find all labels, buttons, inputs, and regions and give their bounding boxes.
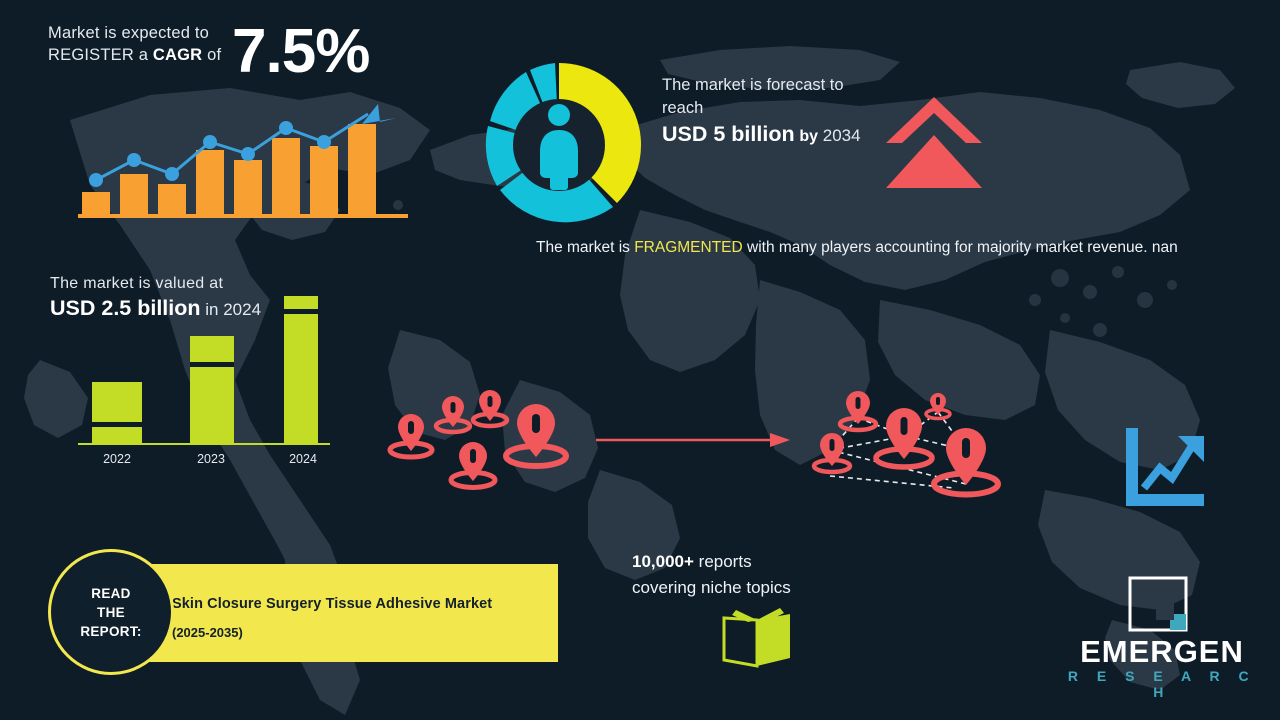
fragment-pre: The market is bbox=[536, 239, 634, 256]
reports-line-1: 10,000+ reports bbox=[632, 549, 791, 575]
read-the-report-badge[interactable]: READ THE REPORT: bbox=[48, 549, 174, 675]
bar-2023 bbox=[190, 336, 234, 444]
forecast-line-3: USD 5 billion by 2034 bbox=[662, 122, 861, 147]
bar-2024-divider bbox=[284, 309, 318, 314]
fragmented-statement: The market is FRAGMENTED with many playe… bbox=[536, 237, 1216, 259]
forecast-line-1: The market is forecast to bbox=[662, 74, 861, 97]
map-pin-icon bbox=[840, 391, 876, 430]
infographic-canvas: Market is expected to REGISTER a CAGR of… bbox=[0, 0, 1280, 720]
valuation-line-1: The market is valued at bbox=[50, 272, 261, 296]
forecast-value: USD 5 billion bbox=[662, 122, 795, 146]
cagr-text-block: Market is expected to REGISTER a CAGR of bbox=[48, 22, 221, 66]
bar-label-2023: 2023 bbox=[178, 452, 244, 466]
forecast-text-block: The market is forecast to reach USD 5 bi… bbox=[662, 74, 861, 147]
map-pin-icon bbox=[814, 433, 850, 472]
logo-square-icon bbox=[1128, 576, 1188, 632]
map-pin-icon bbox=[436, 396, 470, 432]
scattered-location-pins bbox=[384, 388, 584, 496]
map-pin-icon bbox=[926, 393, 950, 419]
report-title: Skin Closure Surgery Tissue Adhesive Mar… bbox=[172, 596, 492, 612]
growth-bar-line-chart bbox=[78, 88, 408, 218]
cagr-line2-pre: REGISTER a bbox=[48, 46, 153, 64]
map-pin-icon bbox=[451, 442, 495, 488]
trending-up-icon bbox=[1118, 422, 1210, 514]
map-pin-icon bbox=[390, 414, 432, 457]
forecast-line-2: reach bbox=[662, 97, 861, 120]
cagr-line2-post: of bbox=[202, 46, 221, 64]
report-years: (2025-2035) bbox=[172, 625, 243, 640]
fragment-post: with many players accounting for majorit… bbox=[743, 239, 1178, 256]
bar-2024 bbox=[284, 296, 318, 444]
right-arrow-icon bbox=[596, 432, 790, 448]
fragment-highlight: FRAGMENTED bbox=[634, 239, 743, 256]
cagr-line-1: Market is expected to bbox=[48, 22, 221, 44]
double-up-arrow-icon bbox=[884, 95, 984, 190]
map-pin-icon bbox=[876, 408, 932, 467]
bar-2022 bbox=[92, 382, 142, 444]
bar-label-2024: 2024 bbox=[270, 452, 336, 466]
map-pin-icon bbox=[934, 428, 998, 495]
logo-primary-text: EMERGEN bbox=[1060, 634, 1264, 670]
reports-count-block: 10,000+ reports covering niche topics bbox=[632, 549, 791, 601]
reports-word: reports bbox=[694, 552, 752, 571]
reports-line-2: covering niche topics bbox=[632, 575, 791, 601]
market-value-bar-chart: 2022 2023 2024 bbox=[78, 296, 330, 466]
cagr-line-2: REGISTER a CAGR of bbox=[48, 44, 221, 66]
cagr-value: 7.5% bbox=[232, 16, 369, 87]
cagr-keyword: CAGR bbox=[153, 46, 202, 64]
forecast-year: 2034 bbox=[823, 126, 861, 145]
map-pin-icon bbox=[506, 404, 566, 466]
read-the-report-label: READ THE REPORT: bbox=[80, 584, 141, 641]
map-pin-icon bbox=[473, 390, 507, 426]
reports-count: 10,000+ bbox=[632, 552, 694, 571]
forecast-by: by bbox=[799, 128, 818, 145]
connected-location-pins bbox=[806, 388, 1012, 500]
open-book-icon bbox=[718, 608, 796, 668]
donut-chart bbox=[470, 56, 648, 234]
logo-secondary-text: R E S E A R C H bbox=[1060, 668, 1264, 700]
bar-2022-divider bbox=[92, 422, 142, 427]
bar-2023-divider bbox=[190, 362, 234, 367]
bar-label-2022: 2022 bbox=[84, 452, 150, 466]
emergen-research-logo: EMERGEN R E S E A R C H bbox=[1060, 576, 1264, 692]
